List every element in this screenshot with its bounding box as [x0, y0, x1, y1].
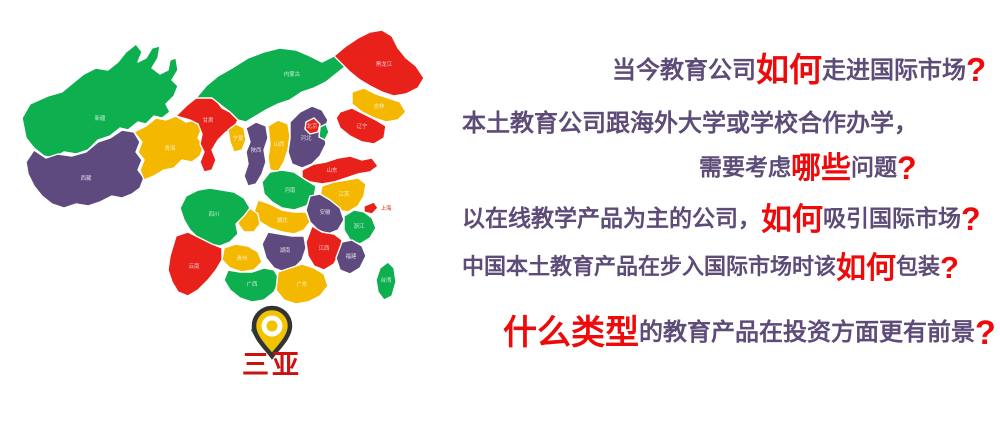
q6-seg-2: 的教育产品在投资方面更有前景 [639, 319, 975, 346]
province-zhejiang[interactable] [344, 210, 376, 244]
province-label-shanghai: 上海 [381, 204, 392, 212]
province-shanghai[interactable] [364, 202, 378, 214]
q4-seg-1: 以在线教学产品为主的公司， [462, 205, 761, 231]
question-line-1: 当今教育公司如何走进国际市场? [612, 53, 986, 86]
q2-seg-1: 本土教育公司跟海外大学或学校合作办学， [462, 110, 918, 137]
questions-panel: 当今教育公司如何走进国际市场? 本土教育公司跟海外大学或学校合作办学， 需要考虑… [450, 0, 1000, 429]
poster-root: 新疆 西藏 青海 甘肃 内蒙古 宁夏 陕西 山西 河北 [0, 0, 1000, 429]
province-fujian[interactable] [336, 240, 366, 274]
question-line-4: 以在线教学产品为主的公司，如何吸引国际市场? [462, 203, 981, 235]
province-taiwan[interactable] [376, 262, 396, 300]
province-guizhou[interactable] [222, 244, 262, 272]
province-qinghai[interactable] [134, 116, 204, 180]
province-shaanxi[interactable] [244, 122, 268, 186]
province-tianjin[interactable] [319, 124, 329, 140]
question-line-3: 需要考虑哪些问题? [699, 152, 917, 184]
province-guangdong[interactable] [276, 264, 328, 304]
question-line-5: 中国本土教育产品在步入国际市场时该如何包装? [462, 252, 959, 284]
q4-question-mark: ? [961, 201, 981, 237]
q4-seg-3: 吸引国际市场 [823, 205, 961, 231]
q1-highlight: 如何 [756, 51, 822, 88]
q1-seg-3: 走进国际市场 [822, 57, 966, 84]
q3-seg-3: 问题 [851, 154, 897, 180]
q6-question-mark: ? [975, 314, 996, 352]
province-shanxi[interactable] [268, 120, 290, 172]
q3-seg-1: 需要考虑 [699, 154, 791, 180]
province-heilongjiang[interactable] [334, 30, 424, 96]
q5-question-mark: ? [940, 250, 959, 285]
china-map-panel: 新疆 西藏 青海 甘肃 内蒙古 宁夏 陕西 山西 河北 [0, 0, 450, 429]
province-hainan[interactable] [250, 314, 288, 346]
question-line-2: 本土教育公司跟海外大学或学校合作办学， [462, 112, 918, 136]
q1-question-mark: ? [966, 51, 986, 88]
q1-seg-1: 当今教育公司 [612, 57, 756, 84]
q5-seg-3: 包装 [896, 254, 940, 279]
q6-highlight: 什么类型 [503, 314, 639, 352]
q5-highlight: 如何 [836, 252, 896, 285]
province-ningxia[interactable] [228, 124, 246, 152]
q5-seg-1: 中国本土教育产品在步入国际市场时该 [462, 254, 836, 279]
question-line-6: 什么类型的教育产品在投资方面更有前景? [503, 316, 996, 350]
q4-highlight: 如何 [761, 202, 823, 237]
q3-highlight: 哪些 [791, 152, 851, 185]
q3-question-mark: ? [897, 150, 917, 186]
province-jiangxi[interactable] [306, 226, 342, 270]
province-guangxi[interactable] [224, 268, 280, 302]
sanya-city-label: 三亚 [192, 352, 352, 379]
